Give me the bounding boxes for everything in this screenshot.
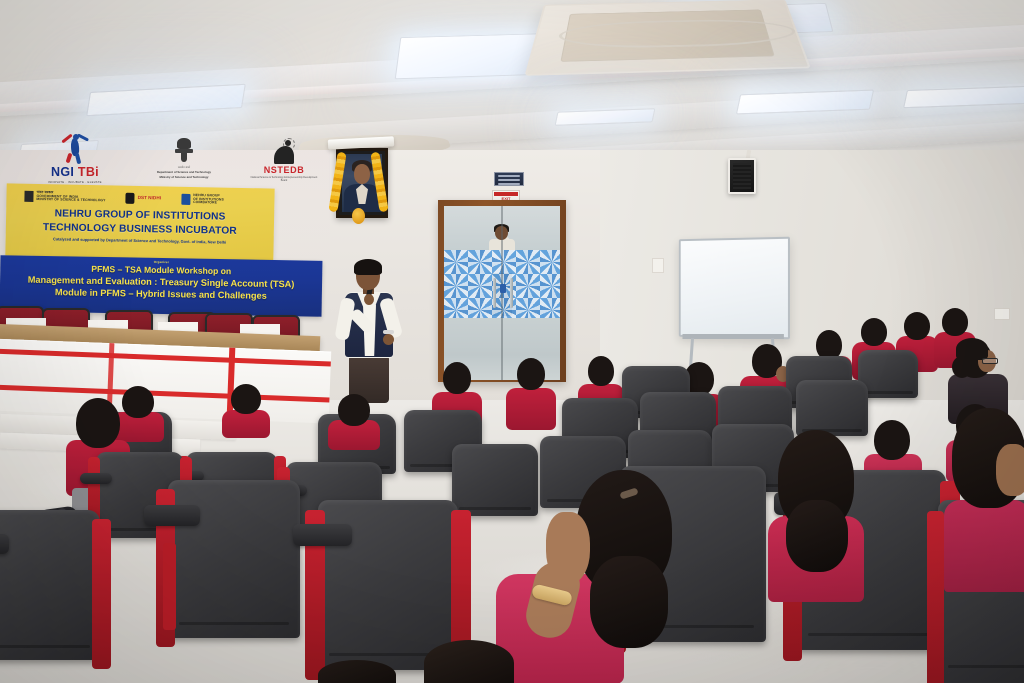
eyeglasses [982,358,998,364]
logo-national-emblem: सत्यमेव जयते Department of Science and T… [152,138,216,180]
door-handle[interactable] [510,278,513,308]
emblem-caption: सत्यमेव जयते [152,165,216,169]
auditorium-seat-foreground[interactable] [318,500,458,670]
door-handle[interactable] [493,278,496,308]
audience-member [328,394,380,442]
auditorium-photo: NGI TBi INNOVATE · INCUBATE · ELEVATE सत… [0,0,1024,683]
glass-door[interactable] [438,200,566,382]
nstedb-tagline: National Science & Technology Entreprene… [248,176,320,182]
banner-title-line1: NEHRU GROUP OF INSTITUTIONS [6,207,274,224]
sponsor-dst-nidhi: DST NIDHI [125,193,161,205]
sponsor-ministry: भारत सरकार GOVERNMENT OF INDIA MINISTRY … [24,191,105,204]
banner-yellow: भारत सरकार GOVERNMENT OF INDIA MINISTRY … [5,183,274,260]
auditorium-seat-foreground[interactable] [0,510,100,660]
wall-switch-plate[interactable] [652,258,664,273]
framed-portrait [330,138,390,230]
door-glass-panel [444,206,560,380]
wall-speaker [728,158,756,194]
sponsor-logo-row: भारत सरकार GOVERNMENT OF INDIA MINISTRY … [6,183,274,209]
audience-member-foreground [938,408,1024,588]
wall-switch-plate[interactable] [994,308,1010,320]
nstedb-head-icon [271,140,297,164]
whiteboard-tray [682,334,783,339]
ponytail [590,556,668,648]
emblem-org-line2: Ministry of Science and Technology [152,176,216,179]
emblem-org-line1: Department of Science and Technology [152,171,216,174]
ashoka-emblem-icon [174,138,194,164]
sponsor-nehru-group: NEHRU GROUP OF INSTITUTIONS COIMBATORE [181,194,224,206]
nstedb-wordmark: NSTEDB [248,165,320,175]
ponytail [786,500,848,572]
audience-member-foreground [760,430,880,600]
ngi-tbi-wordmark: NGI TBi [28,165,122,179]
ngi-figure-icon [60,134,90,164]
presenter-speaker [336,262,404,402]
audience-head-partial [318,660,396,683]
notice-sign [494,172,524,186]
auditorium-seat-foreground[interactable] [168,480,300,638]
dais-front-panel [0,339,331,424]
logo-nstedb: NSTEDB National Science & Technology Ent… [248,140,320,182]
logo-ngi-tbi: NGI TBi INNOVATE · INCUBATE · ELEVATE [28,134,122,184]
garland-knot [352,208,365,224]
audience-member [506,358,556,424]
auditorium-seat[interactable] [796,380,868,436]
whiteboard [679,237,790,340]
audience-member [222,384,270,430]
audience-head-partial [424,640,514,683]
door-lock-plate [500,284,506,293]
